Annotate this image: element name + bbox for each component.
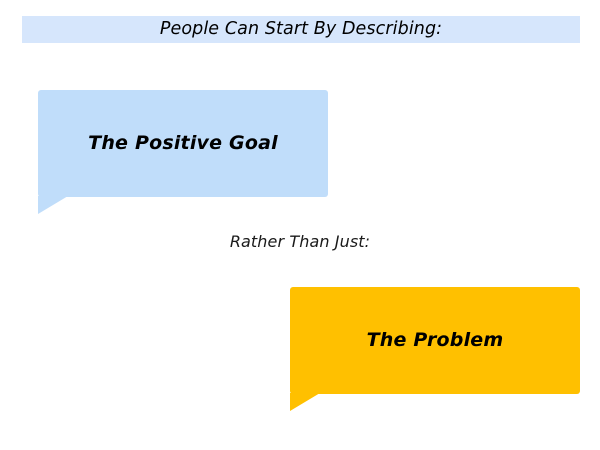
speech-bubble-tail-icon xyxy=(38,196,68,214)
speech-bubble-positive-goal[interactable]: The Positive Goal xyxy=(38,90,328,215)
slide-canvas: People Can Start By Describing: The Posi… xyxy=(0,0,600,450)
speech-bubble-problem[interactable]: The Problem xyxy=(290,287,580,412)
speech-bubble-body: The Problem xyxy=(290,287,580,394)
speech-bubble-label-positive-goal: The Positive Goal xyxy=(88,134,278,153)
header-banner: People Can Start By Describing: xyxy=(22,16,580,43)
page-title: People Can Start By Describing: xyxy=(160,21,442,39)
speech-bubble-label-problem: The Problem xyxy=(367,331,504,350)
connector-caption-label: Rather Than Just: xyxy=(230,232,370,251)
connector-caption: Rather Than Just: xyxy=(0,232,600,251)
speech-bubble-body: The Positive Goal xyxy=(38,90,328,197)
speech-bubble-tail-icon xyxy=(290,393,320,411)
